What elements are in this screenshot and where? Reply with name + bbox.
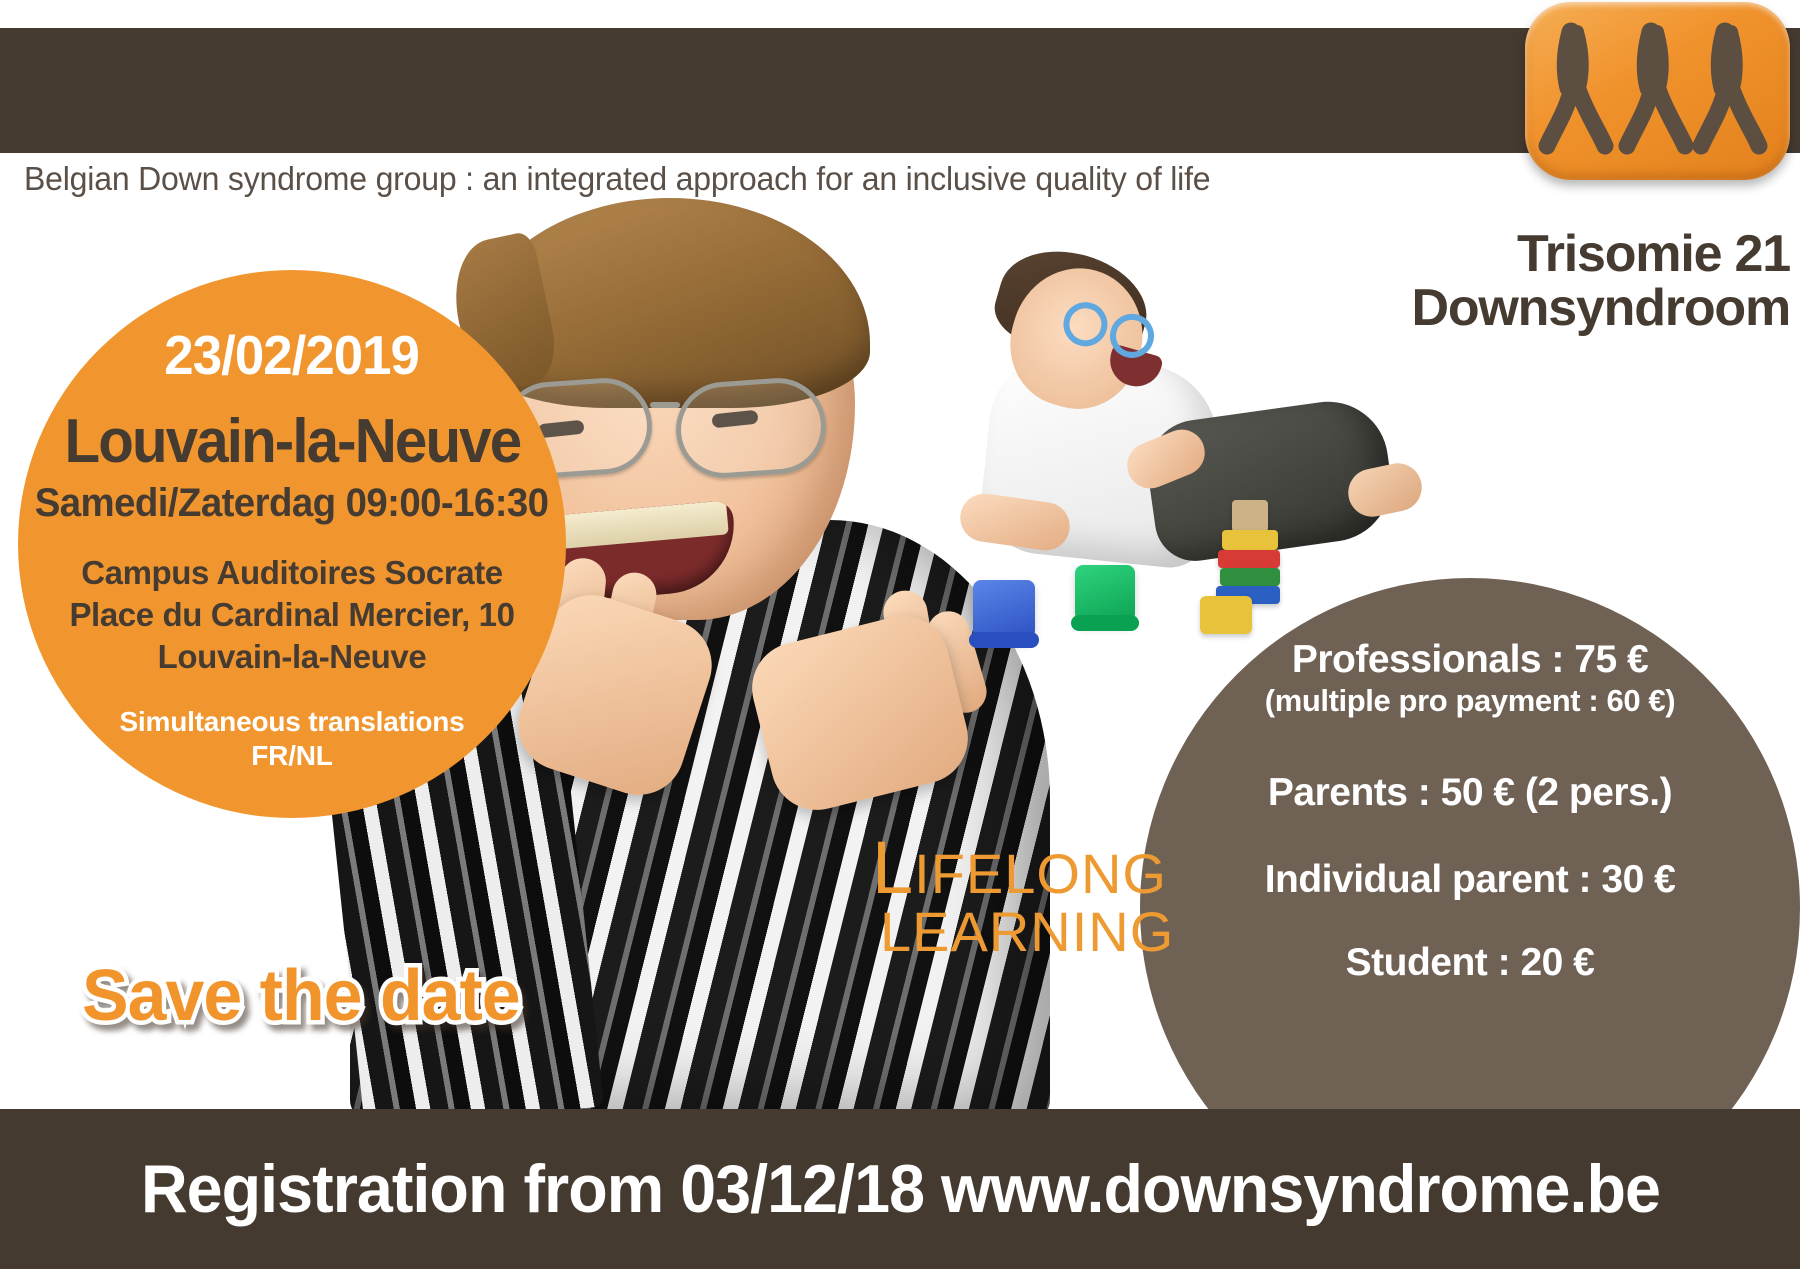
subtitle: Belgian Down syndrome group : an integra… [24,160,1210,198]
footer-bar: Registration from 03/12/18 www.downsyndr… [0,1109,1800,1269]
venue-line-2: Place du Cardinal Mercier, 10 [69,594,514,636]
event-city: Louvain-la-Neuve [64,411,520,473]
toy-red-block [1218,550,1280,568]
toy-yellow-block [1222,530,1278,550]
glasses-bridge [650,402,680,408]
venue-line-3: Louvain-la-Neuve [69,636,514,678]
lifelong-learning-tagline: LIFELONG LEARNING [872,832,1174,959]
lifelong-line-2: LEARNING [872,905,1174,960]
organization-name: Trisomie 21 Downsyndroom [1412,228,1791,335]
translations-line-2: FR/NL [119,739,464,773]
price-individual-parent: Individual parent : 30 € [1265,860,1676,901]
right-lens [673,375,829,481]
price-professionals-note: (multiple pro payment : 60 €) [1265,683,1675,719]
registration-info: Registration from 03/12/18 www.downsyndr… [140,1150,1659,1228]
toy-wooden-block [1232,500,1268,532]
venue-line-1: Campus Auditoires Socrate [69,552,514,594]
toy-green-cup [1075,565,1135,625]
event-day-time: Samedi/Zaterdag 09:00-16:30 [35,481,549,526]
hair [470,198,870,408]
translations-line-1: Simultaneous translations [119,705,464,739]
organization-line-2: Downsyndroom [1412,282,1791,336]
child-left-lens [1059,298,1112,351]
event-date: 23/02/2019 [165,328,420,383]
event-info-circle: 23/02/2019 Louvain-la-Neuve Samedi/Zater… [18,270,566,818]
trisomy-chromosomes-logo [1525,2,1790,180]
toy-yellow-cylinder [1200,596,1252,634]
lifelong-line-1-rest: IFELONG [914,842,1167,905]
lifelong-drop-cap: L [872,826,914,909]
organization-line-1: Trisomie 21 [1412,228,1791,282]
lifelong-line-1: LIFELONG [872,832,1174,905]
event-venue: Campus Auditoires Socrate Place du Cardi… [69,552,514,679]
chromosome-icon [1525,2,1790,180]
price-parents: Parents : 50 € (2 pers.) [1268,773,1672,814]
translations-note: Simultaneous translations FR/NL [119,705,464,773]
price-student: Student : 20 € [1346,943,1595,984]
price-professionals: Professionals : 75 € [1292,640,1648,681]
toy-green-block [1220,568,1280,586]
save-the-date-text: Save the date [82,960,520,1032]
toy-blue-cup [973,580,1035,642]
